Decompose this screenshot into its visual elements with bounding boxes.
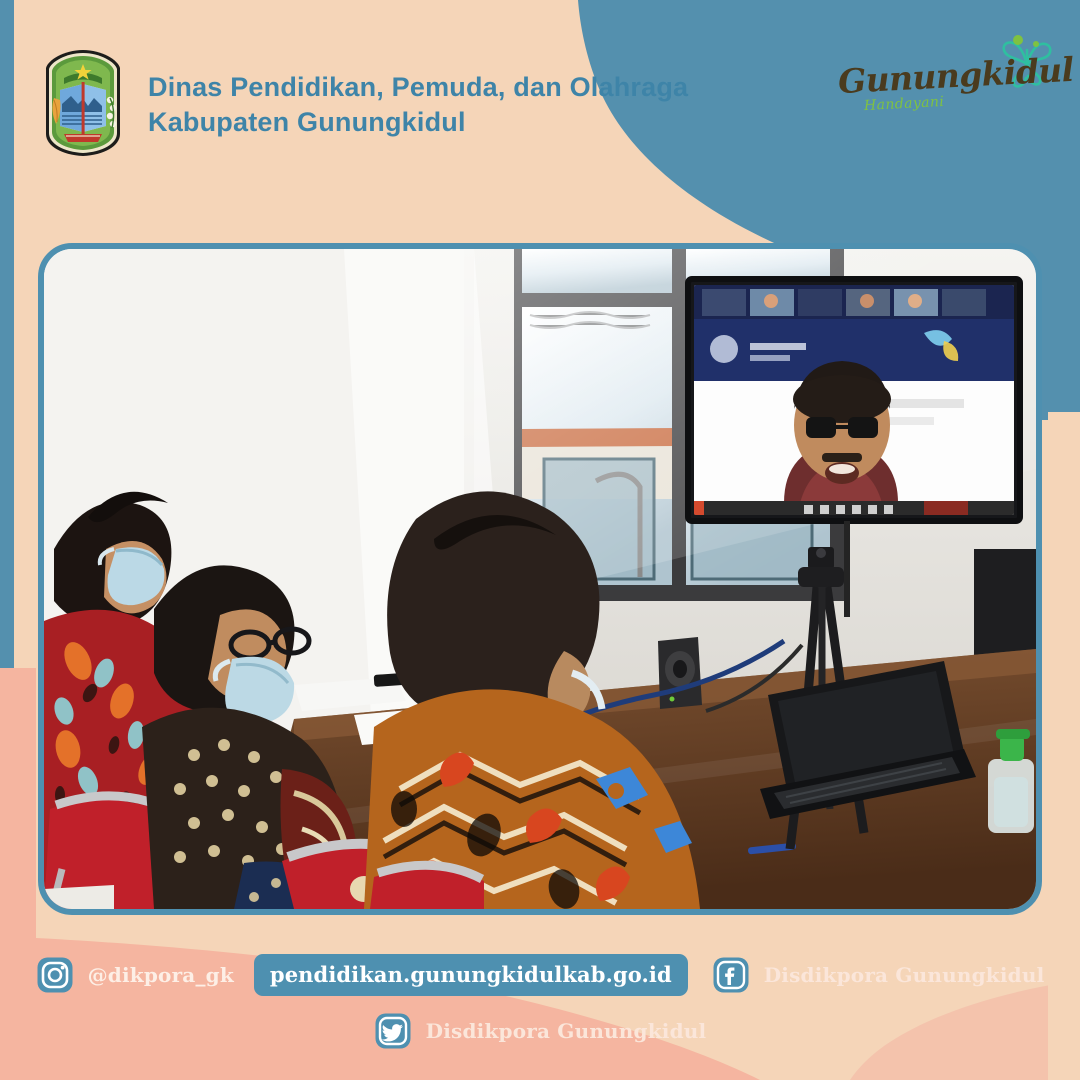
header: Dinas Pendidikan, Pemuda, dan Olahraga K… (40, 48, 688, 158)
page-title-line2: Kabupaten Gunungkidul (148, 105, 688, 140)
facebook-icon[interactable] (712, 956, 750, 994)
website-url: pendidikan.gunungkidulkab.go.id (270, 962, 672, 987)
page-title-line1: Dinas Pendidikan, Pemuda, dan Olahraga (148, 70, 688, 105)
facebook-page-name: Disdikpora Gunungkidul (764, 963, 1045, 987)
instagram-handle: @dikpora_gk (88, 963, 234, 987)
header-title-group: Dinas Pendidikan, Pemuda, dan Olahraga K… (148, 48, 688, 140)
footer-social-bar: @dikpora_gk pendidikan.gunungkidulkab.go… (0, 948, 1080, 1068)
twitter-account-name: Disdikpora Gunungkidul (426, 1019, 707, 1043)
poster-canvas: Dinas Pendidikan, Pemuda, dan Olahraga K… (0, 0, 1080, 1080)
gunungkidul-regency-crest-icon (40, 48, 126, 158)
photo-frame (38, 243, 1042, 915)
brand-tagline: Handayani (864, 94, 945, 114)
twitter-icon[interactable] (374, 1012, 412, 1050)
website-badge[interactable]: pendidikan.gunungkidulkab.go.id (254, 954, 688, 996)
gunungkidul-brand: Gunungkidul Handayani (838, 38, 1058, 130)
speaker (658, 637, 702, 709)
brand-wordmark: Gunungkidul (837, 55, 1034, 98)
meeting-photo (44, 249, 1036, 909)
teal-left-edge-shape (0, 0, 14, 672)
meeting-photo-scene (44, 249, 1036, 909)
instagram-icon[interactable] (36, 956, 74, 994)
